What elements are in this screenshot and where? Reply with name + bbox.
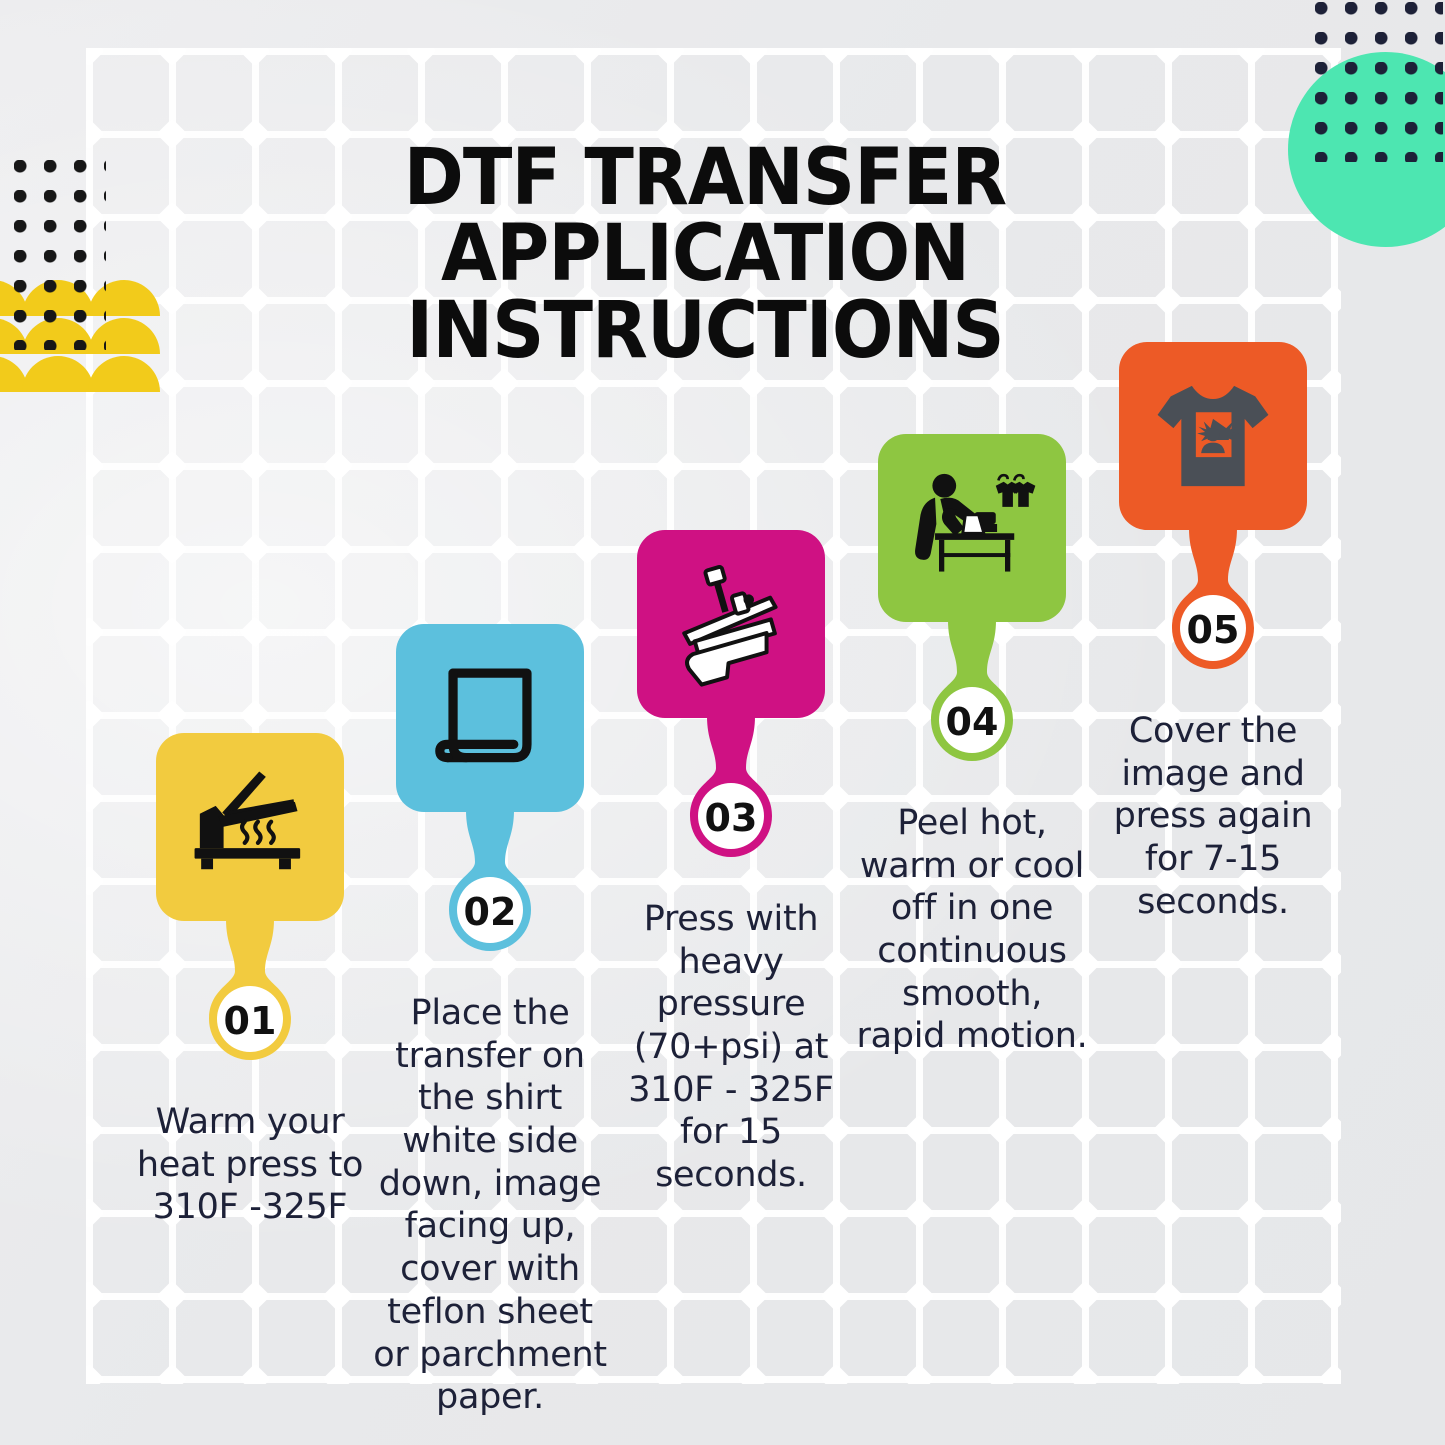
transfer-sheet-icon (424, 652, 556, 784)
step-icon-card (878, 434, 1066, 622)
step-number-badge: 05 (1094, 608, 1332, 652)
heat-press-machine-icon (665, 558, 797, 690)
step-number-badge: 04 (853, 700, 1091, 744)
worker-peeling-transfer-icon (906, 462, 1038, 594)
dot-grid-decoration-left (14, 160, 106, 350)
step-icon-card (1119, 342, 1307, 530)
step-connector-wrap: 05 (1094, 528, 1332, 704)
step-connector-wrap: 02 (371, 810, 609, 986)
step-icon-card (156, 733, 344, 921)
step-02: 02Place the transfer on the shirt white … (371, 624, 609, 1419)
step-connector-wrap: 01 (131, 919, 369, 1095)
step-05: 05Cover the image and press again for 7-… (1094, 342, 1332, 923)
heat-press-open-icon (184, 761, 316, 893)
step-connector-wrap: 03 (612, 716, 850, 892)
step-01: 01Warm your heat press to 310F -325F (131, 733, 369, 1229)
step-caption: Peel hot, warm or cool off in one contin… (853, 802, 1091, 1058)
yellow-arc (22, 356, 94, 392)
printed-tshirt-icon (1147, 370, 1279, 502)
step-icon-card (637, 530, 825, 718)
step-caption: Press with heavy pressure (70+psi) at 31… (612, 898, 850, 1197)
step-icon-card (396, 624, 584, 812)
step-number-badge: 02 (371, 890, 609, 934)
step-caption: Warm your heat press to 310F -325F (131, 1101, 369, 1229)
steps-container: 01Warm your heat press to 310F -325F 02P… (0, 0, 1445, 1445)
step-04: 04Peel hot, warm or cool off in one cont… (853, 434, 1091, 1058)
step-number-badge: 03 (612, 796, 850, 840)
step-number-badge: 01 (131, 999, 369, 1043)
step-caption: Place the transfer on the shirt white si… (371, 992, 609, 1419)
yellow-arc (88, 356, 160, 392)
step-caption: Cover the image and press again for 7-15… (1094, 710, 1332, 923)
step-03: 03Press with heavy pressure (70+psi) at … (612, 530, 850, 1197)
step-connector-wrap: 04 (853, 620, 1091, 796)
